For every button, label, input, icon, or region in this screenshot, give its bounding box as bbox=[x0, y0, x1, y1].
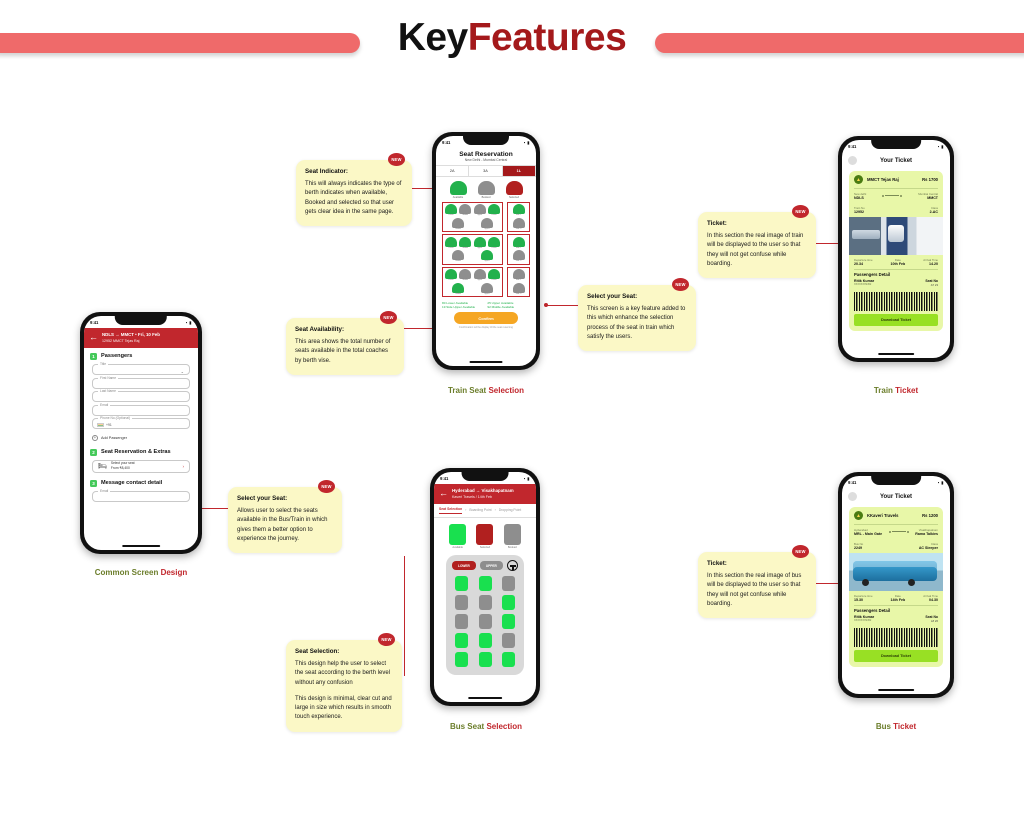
class-value: 2-AC bbox=[930, 210, 938, 214]
chevron-right-icon: › bbox=[465, 508, 466, 512]
route-arrow-icon bbox=[889, 528, 909, 536]
download-ticket-button[interactable]: Download Ticket bbox=[854, 650, 938, 662]
screen-header: Seat Reservation New Delhi - Mumbai Cent… bbox=[436, 148, 536, 165]
home-indicator bbox=[470, 361, 503, 363]
ticket-card: ▲ MMCT Tejas Raj Rs 1700 New delhi NDLS … bbox=[849, 171, 943, 331]
field-label: Title bbox=[98, 362, 108, 366]
section-number: 1 bbox=[90, 353, 97, 360]
route-row: Hyderabad MRL - Main Gate Visakhapatnam … bbox=[849, 525, 943, 539]
berth-seat[interactable]: Side L bbox=[513, 237, 525, 249]
operator-row: ▲ KKaveri Travels Rs 1200 bbox=[849, 507, 943, 524]
select-seat-row[interactable]: 🛏 Select your seat From ₹8,400 › bbox=[92, 460, 190, 473]
callout-body: Allows user to select the seats availabl… bbox=[237, 507, 333, 544]
screen-title: Seat Reservation bbox=[436, 151, 536, 158]
berth-selected-icon bbox=[506, 181, 523, 195]
page-header: KeyFeatures bbox=[0, 0, 1024, 85]
coach-side-bays: Side L Side U Side L Side U Side L Side … bbox=[507, 202, 530, 300]
seat-available-icon bbox=[449, 524, 466, 545]
bus-seat[interactable] bbox=[502, 595, 515, 610]
caption-bus-ticket: Bus Ticket bbox=[826, 722, 966, 731]
train-no-cell: Train No 12952 bbox=[854, 206, 865, 214]
coach-main-bays: Lower Middle Upper Lower Middle Upper Lo… bbox=[442, 202, 503, 300]
class-value: AC Sleeper bbox=[919, 546, 938, 550]
passenger-id: XXXXXXX9452 bbox=[854, 619, 874, 622]
deck-toggle-row: LOWER UPPER bbox=[452, 560, 518, 571]
legend-label: Selected bbox=[506, 196, 523, 199]
callout-title: Ticket: bbox=[707, 220, 807, 227]
caption-part1: Train bbox=[874, 386, 895, 395]
section-title: Seat Reservation & Extras bbox=[101, 449, 171, 455]
tab-seat-selection[interactable]: Seat Selection bbox=[439, 507, 462, 514]
field-last-name[interactable]: Last Name bbox=[92, 391, 190, 402]
berth-seat[interactable]: Upper bbox=[481, 283, 493, 295]
callout-title: Seat Indicator: bbox=[305, 168, 403, 175]
berth-seat[interactable]: Upper bbox=[481, 218, 493, 230]
berth-seat[interactable]: Side U bbox=[513, 283, 525, 295]
passenger-section-title: Passengers Detail bbox=[849, 605, 943, 614]
class-cell: Class AC Sleeper bbox=[919, 542, 938, 550]
phone-train-ticket: 9:41 ▪ ▮ Your Ticket ▲ MMCT Tejas Raj Rs… bbox=[838, 136, 954, 362]
callout-ticket-bus: NEW Ticket: In this section the real ima… bbox=[698, 552, 816, 618]
legend-booked: Booked bbox=[504, 524, 521, 550]
callout-seat-selection-bus: NEW Seat Selection: This design help the… bbox=[286, 640, 402, 732]
berth-available-icon bbox=[450, 181, 467, 195]
section-number: 2 bbox=[90, 449, 97, 456]
tab-dropping-point[interactable]: Dropping Point bbox=[499, 508, 521, 512]
callout-title: Select your Seat: bbox=[237, 495, 333, 502]
bus-logo-icon: ▲ bbox=[854, 511, 863, 520]
callout-body: In this section the real image of train … bbox=[707, 232, 807, 269]
availability-count: 92 Middle bbox=[487, 305, 500, 309]
bay[interactable]: Lower Middle Upper Lower Middle Upper bbox=[442, 234, 503, 265]
tab-2a[interactable]: 2A bbox=[436, 166, 469, 176]
tab-1l[interactable]: 1L bbox=[503, 166, 536, 176]
bus-no-cell: Bus No 2249 bbox=[854, 542, 863, 550]
ticket-header: Your Ticket bbox=[842, 488, 950, 503]
page-title: Your Ticket bbox=[857, 158, 935, 164]
berth-seat[interactable]: Upper bbox=[481, 250, 493, 262]
date-cell: Date 10th Feb bbox=[890, 258, 905, 266]
status-time: 9:41 bbox=[848, 480, 856, 485]
bus-seat-column bbox=[479, 576, 492, 667]
origin-label: New delhi bbox=[854, 192, 866, 196]
status-time: 9:41 bbox=[440, 476, 448, 481]
confirm-button[interactable]: Confirm bbox=[454, 312, 518, 324]
app-bar: ← Hyderabad → Visakhapatnam Kaveri Trave… bbox=[434, 484, 536, 504]
callout-title: Select your Seat: bbox=[587, 293, 687, 300]
country-code: +91 bbox=[106, 423, 112, 427]
bus-seat[interactable] bbox=[455, 595, 468, 610]
departure-value: 20.34 bbox=[854, 262, 873, 266]
arrival-label: Arrival Time bbox=[923, 594, 938, 598]
callout-select-seat-train: NEW Select your Seat: This screen is a k… bbox=[578, 285, 696, 351]
chevron-right-icon: › bbox=[183, 464, 185, 469]
bus-seat[interactable] bbox=[455, 614, 468, 629]
berth-seat[interactable]: Middle bbox=[452, 218, 464, 230]
section-number: 3 bbox=[90, 480, 97, 487]
field-label: Email bbox=[98, 489, 110, 493]
add-passenger-button[interactable]: + Add Passenger bbox=[84, 432, 198, 444]
connector-dot bbox=[544, 303, 548, 307]
ticket-price: Rs 1200 bbox=[922, 513, 938, 518]
destination-label: Mumbai Central bbox=[918, 192, 938, 196]
callout-body: This design help the user to select the … bbox=[295, 660, 393, 688]
departure-label: Departure time bbox=[854, 258, 873, 262]
legend-label: Selected bbox=[476, 546, 493, 549]
bay[interactable]: Lower Middle Upper Lower Middle Upper bbox=[442, 202, 503, 233]
home-indicator bbox=[468, 697, 502, 699]
seat-value: A7 23 bbox=[925, 283, 938, 287]
berth-seat[interactable]: Middle bbox=[459, 204, 471, 216]
menu-circle-icon[interactable] bbox=[848, 492, 857, 501]
availability-count: 19 Side Upper bbox=[442, 305, 462, 309]
connector-select-seat-train bbox=[546, 305, 578, 306]
bus-seat[interactable] bbox=[479, 576, 492, 591]
berth-seat[interactable]: Side L bbox=[513, 204, 525, 216]
bay[interactable]: Lower Middle Upper Lower Middle Upper bbox=[442, 267, 503, 298]
field-label: First Name bbox=[98, 376, 118, 380]
status-bar: 9:41 ▪ ▮ bbox=[842, 140, 950, 152]
train-no-value: 12952 bbox=[854, 210, 865, 214]
caption-part2: Ticket bbox=[895, 386, 918, 395]
arrival-value: 14.20 bbox=[923, 262, 938, 266]
side-bay[interactable]: Side L Side U bbox=[507, 234, 530, 265]
origin-code: NDLS bbox=[854, 196, 866, 200]
status-bar: 9:41 ▪ ▮ bbox=[842, 476, 950, 488]
side-bay[interactable]: Side L Side U bbox=[507, 267, 530, 298]
new-badge: NEW bbox=[792, 545, 809, 558]
seat-booked-icon bbox=[504, 524, 521, 545]
status-icons: ▪ ▮ bbox=[524, 140, 530, 145]
seat-legend: Available Selected Booked bbox=[434, 518, 536, 553]
coach-layout: Lower Middle Upper Lower Middle Upper Lo… bbox=[436, 202, 536, 300]
bus-seat[interactable] bbox=[502, 576, 515, 591]
bus-seat-column bbox=[455, 576, 468, 667]
destination-code: MMCT bbox=[918, 196, 938, 200]
bus-seat[interactable] bbox=[502, 614, 515, 629]
field-email[interactable]: Email bbox=[92, 405, 190, 416]
operator-name: KKaveri Travels bbox=[867, 513, 918, 518]
booking-step-tabs: Seat Selection › Boarding Point › Droppi… bbox=[434, 504, 536, 518]
bus-seat-grid bbox=[452, 576, 518, 667]
berth-seat[interactable]: Side U bbox=[513, 250, 525, 262]
caption-part1: Bus bbox=[876, 722, 893, 731]
departure-value: 15.30 bbox=[854, 598, 873, 602]
availability-status: Available bbox=[463, 305, 476, 309]
page-title-part1: Key bbox=[398, 16, 468, 59]
home-indicator bbox=[122, 545, 160, 547]
route-subtitle: 12952 MMCT Tejas Raj bbox=[102, 339, 160, 343]
confirm-note: Confirmation will be display till the se… bbox=[436, 326, 536, 329]
callout-ticket-train: NEW Ticket: In this section the real ima… bbox=[698, 212, 816, 278]
seat-legend: Available Booked Selected bbox=[436, 177, 536, 202]
ticket-price: Rs 1700 bbox=[922, 177, 938, 182]
legend-selected: Selected bbox=[506, 181, 523, 199]
arrow-left-icon[interactable]: ← bbox=[439, 489, 448, 498]
passenger-section-title: Passengers Detail bbox=[849, 269, 943, 278]
bus-no-label: Bus No bbox=[854, 542, 863, 546]
caption-part2: Selection bbox=[488, 386, 524, 395]
date-cell: Date 14th Feb bbox=[890, 594, 905, 602]
status-bar: 9:41 ▪ ▮ bbox=[434, 472, 536, 484]
steering-wheel-icon bbox=[507, 560, 518, 571]
berth-booked-icon bbox=[478, 181, 495, 195]
legend-selected: Selected bbox=[476, 524, 493, 550]
timing-row: Departure time 20.34 Date 10th Feb Arriv… bbox=[849, 255, 943, 269]
departure-cell: Departure time 15.30 bbox=[854, 594, 873, 602]
origin-cell: New delhi NDLS bbox=[854, 192, 866, 200]
bus-seat[interactable] bbox=[479, 595, 492, 610]
class-tabs: 2A 3A 1L bbox=[436, 165, 536, 177]
add-passenger-label: Add Passenger bbox=[101, 436, 127, 440]
download-ticket-button[interactable]: Download Ticket bbox=[854, 314, 938, 326]
bus-seat[interactable] bbox=[455, 652, 468, 667]
caption-train-seat-selection: Train Seat Selection bbox=[412, 386, 560, 395]
origin-cell: Hyderabad MRL - Main Gate bbox=[854, 528, 882, 536]
berth-seat[interactable]: Upper bbox=[474, 204, 486, 216]
berth-seat[interactable]: Lower bbox=[488, 237, 500, 249]
route-row: New delhi NDLS Mumbai Central MMCT bbox=[849, 189, 943, 203]
field-label: Email bbox=[98, 403, 110, 407]
bus-deck-card: LOWER UPPER bbox=[446, 555, 524, 675]
legend-available: Available bbox=[450, 181, 467, 199]
select-seat-line2: From ₹8,400 bbox=[111, 466, 135, 471]
connector-seat-selection-bus-v bbox=[404, 556, 405, 676]
berth-seat[interactable]: Middle bbox=[452, 283, 464, 295]
bus-seat-column bbox=[502, 576, 515, 667]
section-message-contact: 3 Message contact detail bbox=[84, 475, 198, 489]
caption-bus-seat-selection: Bus Seat Selection bbox=[412, 722, 560, 731]
status-bar: 9:41 ▪ ▮ bbox=[84, 316, 198, 328]
new-badge: NEW bbox=[378, 633, 395, 646]
departure-label: Departure time bbox=[854, 594, 873, 598]
field-label: Phone No.(Optional) bbox=[98, 416, 132, 420]
route-subtitle: Kaveri Travels / 14th Feb bbox=[452, 495, 514, 499]
caption-part2: Selection bbox=[486, 722, 522, 731]
bus-seat[interactable] bbox=[479, 614, 492, 629]
destination-cell: Mumbai Central MMCT bbox=[918, 192, 938, 200]
bus-seat[interactable] bbox=[502, 633, 515, 648]
callout-body-2: This design is minimal, clear cut and la… bbox=[295, 695, 393, 723]
field-title[interactable]: Title ⌄ bbox=[92, 364, 190, 375]
berth-seat[interactable]: Lower bbox=[445, 204, 457, 216]
callout-seat-indicator: NEW Seat Indicator: This will always ind… bbox=[296, 160, 412, 226]
berth-seat[interactable]: Lower bbox=[488, 204, 500, 216]
route-title: NDLS → MMCT • Fri, 10 Feb bbox=[102, 332, 160, 339]
flag-icon bbox=[97, 423, 104, 428]
caption-part1: Common Screen bbox=[95, 568, 161, 577]
deck-lower-button[interactable]: LOWER bbox=[452, 561, 476, 570]
seat-selected-icon bbox=[476, 524, 493, 545]
new-badge: NEW bbox=[380, 311, 397, 324]
phone-train-seat-selection: 9:41 ▪ ▮ Seat Reservation New Delhi - Mu… bbox=[432, 132, 540, 370]
tab-boarding-point[interactable]: Boarding Point bbox=[469, 508, 491, 512]
bus-seat[interactable] bbox=[455, 576, 468, 591]
route-arrow-icon bbox=[882, 192, 902, 200]
status-time: 9:41 bbox=[442, 140, 450, 145]
berth-seat[interactable]: Side L bbox=[513, 269, 525, 281]
berth-seat[interactable]: Lower bbox=[488, 269, 500, 281]
callout-seat-availability: NEW Seat Availability: This area shows t… bbox=[286, 318, 404, 375]
bus-seat[interactable] bbox=[479, 652, 492, 667]
caption-part1: Train Seat bbox=[448, 386, 488, 395]
connector-seat-selection-bus-h2 bbox=[404, 556, 405, 557]
ticket-card: ▲ KKaveri Travels Rs 1200 Hyderabad MRL … bbox=[849, 507, 943, 667]
screen-subtitle: New Delhi - Mumbai Central bbox=[436, 158, 536, 162]
arrival-label: Arrival Time bbox=[923, 258, 938, 262]
barcode bbox=[854, 292, 938, 311]
legend-label: Booked bbox=[504, 546, 521, 549]
status-icons: ▪ ▮ bbox=[186, 320, 192, 325]
section-title: Message contact detail bbox=[101, 480, 162, 486]
status-icons: ▪ ▮ bbox=[938, 144, 944, 149]
date-value: 14th Feb bbox=[890, 598, 905, 602]
tab-3a[interactable]: 3A bbox=[469, 166, 502, 176]
new-badge: NEW bbox=[318, 480, 335, 493]
callout-body: This screen is a key feature added to th… bbox=[587, 305, 687, 342]
origin-point: MRL - Main Gate bbox=[854, 532, 882, 536]
section-passengers: 1 Passengers bbox=[84, 348, 198, 362]
phone-bus-ticket: 9:41 ▪ ▮ Your Ticket ▲ KKaveri Travels R… bbox=[838, 472, 954, 698]
destination-cell: Visakhapatnam Rama Talkies bbox=[915, 528, 938, 536]
caption-part1: Bus Seat bbox=[450, 722, 486, 731]
availability-item: 92 Middle Available bbox=[487, 305, 528, 309]
home-indicator bbox=[878, 353, 914, 355]
section-title: Passengers bbox=[101, 353, 132, 359]
new-badge: NEW bbox=[388, 153, 405, 166]
bus-seat[interactable] bbox=[502, 652, 515, 667]
chevron-right-icon: › bbox=[495, 508, 496, 512]
destination-label: Visakhapatnam bbox=[915, 528, 938, 532]
arrival-cell: Arrival Time 04.30 bbox=[923, 594, 938, 602]
callout-select-seat-common: NEW Select your Seat: Allows user to sel… bbox=[228, 487, 342, 553]
timing-row: Departure time 15.30 Date 14th Feb Arriv… bbox=[849, 591, 943, 605]
phone-common-screen: 9:41 ▪ ▮ ← NDLS → MMCT • Fri, 10 Feb 129… bbox=[80, 312, 202, 554]
bus-seat[interactable] bbox=[479, 633, 492, 648]
berth-seat[interactable]: Side U bbox=[513, 218, 525, 230]
menu-circle-icon[interactable] bbox=[848, 156, 857, 165]
bus-class-row: Bus No 2249 Class AC Sleeper bbox=[849, 539, 943, 553]
passenger-id: XXXXXXX9452 bbox=[854, 283, 874, 286]
app-bar: ← NDLS → MMCT • Fri, 10 Feb 12952 MMCT T… bbox=[84, 328, 198, 348]
deck-upper-button[interactable]: UPPER bbox=[480, 561, 503, 570]
page-title: Your Ticket bbox=[857, 494, 935, 500]
callout-body: This area shows the total number of seat… bbox=[295, 338, 395, 366]
availability-status: Available bbox=[502, 305, 515, 309]
caption-common-screen: Common Screen Design bbox=[80, 568, 202, 577]
bus-seat[interactable] bbox=[455, 633, 468, 648]
berth-seat[interactable]: Middle bbox=[452, 250, 464, 262]
barcode bbox=[854, 628, 938, 647]
arrival-cell: Arrival Time 14.20 bbox=[923, 258, 938, 266]
page-title-part2: Features bbox=[468, 16, 627, 59]
legend-label: Available bbox=[450, 196, 467, 199]
seat-value: L8 26 bbox=[925, 619, 938, 623]
passenger-row: Ritik Kumar XXXXXXX9452 Seat No L8 26 bbox=[849, 614, 943, 626]
callout-body: This will always indicates the type of b… bbox=[305, 180, 403, 217]
field-message-email[interactable]: Email bbox=[92, 491, 190, 502]
status-time: 9:41 bbox=[848, 144, 856, 149]
bus-photo bbox=[849, 553, 943, 591]
plus-icon: + bbox=[92, 435, 98, 441]
callout-title: Ticket: bbox=[707, 560, 807, 567]
new-badge: NEW bbox=[792, 205, 809, 218]
berth-seat[interactable]: Upper bbox=[474, 237, 486, 249]
destination-point: Rama Talkies bbox=[915, 532, 938, 536]
train-no-label: Train No bbox=[854, 206, 865, 210]
class-cell: Class 2-AC bbox=[930, 206, 938, 214]
legend-booked: Booked bbox=[478, 181, 495, 199]
phone-bus-seat-selection: 9:41 ▪ ▮ ← Hyderabad → Visakhapatnam Kav… bbox=[430, 468, 540, 706]
field-first-name[interactable]: First Name bbox=[92, 378, 190, 389]
ticket-header: Your Ticket bbox=[842, 152, 950, 167]
passenger-row: Ritik Kumar XXXXXXX9452 Seat No A7 23 bbox=[849, 278, 943, 290]
chevron-down-icon: ⌄ bbox=[181, 369, 184, 374]
route-title: Hyderabad → Visakhapatnam bbox=[452, 488, 514, 495]
status-time: 9:41 bbox=[90, 320, 98, 325]
status-icons: ▪ ▮ bbox=[938, 480, 944, 485]
arrow-left-icon[interactable]: ← bbox=[89, 333, 98, 342]
page-title: KeyFeatures bbox=[0, 16, 1024, 60]
caption-part2: Design bbox=[161, 568, 188, 577]
section-seat-reservation: 2 Seat Reservation & Extras bbox=[84, 444, 198, 458]
new-badge: NEW bbox=[672, 278, 689, 291]
home-indicator bbox=[878, 689, 914, 691]
field-phone[interactable]: Phone No.(Optional) +91 bbox=[92, 418, 190, 429]
operator-row: ▲ MMCT Tejas Raj Rs 1700 bbox=[849, 171, 943, 188]
seat-icon: 🛏 bbox=[98, 462, 107, 470]
date-value: 10th Feb bbox=[890, 262, 905, 266]
callout-title: Seat Selection: bbox=[295, 648, 393, 655]
availability-item: 19 Side Upper Available bbox=[442, 305, 483, 309]
legend-label: Available bbox=[449, 546, 466, 549]
callout-body: In this section the real image of bus wi… bbox=[707, 572, 807, 609]
bus-no-value: 2249 bbox=[854, 546, 863, 550]
status-bar: 9:41 ▪ ▮ bbox=[436, 136, 536, 148]
operator-name: MMCT Tejas Raj bbox=[867, 177, 918, 182]
caption-part2: Ticket bbox=[893, 722, 916, 731]
legend-available: Available bbox=[449, 524, 466, 550]
berth-seat[interactable]: Middle bbox=[459, 269, 471, 281]
berth-seat[interactable]: Lower bbox=[445, 237, 457, 249]
legend-label: Booked bbox=[478, 196, 495, 199]
berth-seat[interactable]: Lower bbox=[445, 269, 457, 281]
arrival-value: 04.30 bbox=[923, 598, 938, 602]
field-label: Last Name bbox=[98, 389, 118, 393]
availability-summary: 80 Lower Available 25 Upper Available 19… bbox=[436, 299, 536, 309]
train-class-row: Train No 12952 Class 2-AC bbox=[849, 203, 943, 217]
train-photo bbox=[849, 217, 943, 255]
departure-cell: Departure time 20.34 bbox=[854, 258, 873, 266]
caption-train-ticket: Train Ticket bbox=[826, 386, 966, 395]
berth-seat[interactable]: Upper bbox=[474, 269, 486, 281]
status-icons: ▪ ▮ bbox=[524, 476, 530, 481]
callout-title: Seat Availability: bbox=[295, 326, 395, 333]
berth-seat[interactable]: Middle bbox=[459, 237, 471, 249]
train-logo-icon: ▲ bbox=[854, 175, 863, 184]
class-label: Class bbox=[930, 206, 938, 210]
side-bay[interactable]: Side L Side U bbox=[507, 202, 530, 233]
